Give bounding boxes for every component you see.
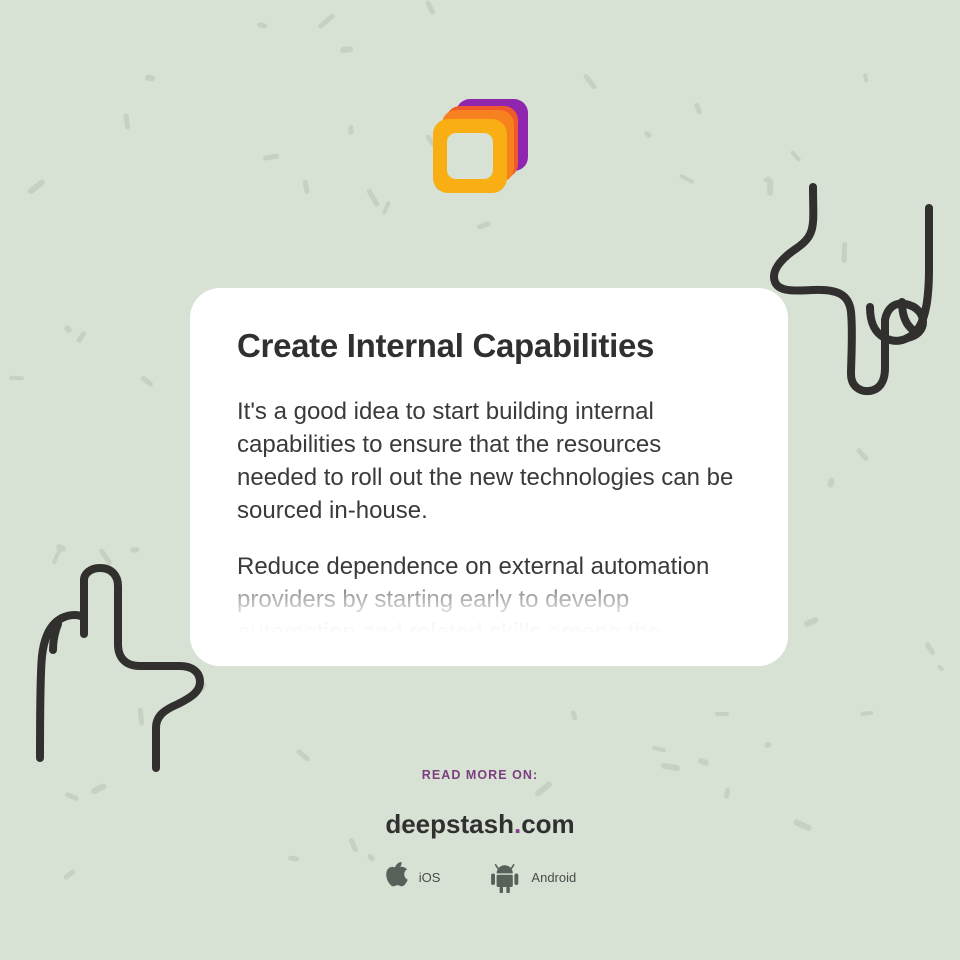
speckle [715, 712, 729, 716]
idea-card[interactable]: Create Internal Capabilities It's a good… [190, 288, 788, 666]
speckle [63, 324, 73, 334]
speckle [828, 477, 835, 488]
speckle [382, 201, 391, 216]
speckle [863, 73, 869, 83]
speckle [317, 13, 335, 30]
speckle [823, 285, 836, 297]
speckle [9, 376, 25, 381]
brand-wordmark[interactable]: deepstash.com [0, 811, 960, 837]
speckle [55, 544, 67, 553]
speckle [98, 547, 113, 565]
apple-icon [384, 862, 410, 893]
deepstash-logo [432, 98, 528, 194]
speckle [140, 375, 154, 387]
logo-square-hole [447, 133, 493, 179]
app-store-badges: iOS And [0, 862, 960, 893]
ios-label: iOS [419, 870, 441, 885]
speckle [924, 641, 936, 655]
android-label: Android [531, 870, 576, 885]
speckle [477, 221, 492, 230]
brand-tld: com [521, 809, 574, 839]
speckle [842, 242, 847, 263]
android-badge[interactable]: Android [488, 862, 576, 893]
speckle [763, 741, 771, 748]
speckle [199, 682, 208, 693]
speckle [697, 757, 709, 766]
speckle [138, 708, 145, 726]
speckle [256, 22, 267, 29]
speckle [570, 710, 578, 721]
speckle [860, 711, 874, 717]
speckle [76, 330, 87, 343]
card-paragraph-1: It's a good idea to start building inter… [237, 395, 742, 527]
speckle [856, 448, 869, 462]
speckle [145, 75, 156, 81]
ios-badge[interactable]: iOS [384, 862, 441, 893]
speckle [936, 664, 944, 672]
brand-name: deepstash [385, 809, 514, 839]
card-title: Create Internal Capabilities [237, 326, 742, 366]
footer: READ MORE ON: deepstash.com iOS [0, 768, 960, 893]
speckle [51, 547, 62, 565]
poster-canvas: Create Internal Capabilities It's a good… [0, 0, 960, 960]
speckle [803, 617, 819, 628]
logo-container [0, 98, 960, 194]
speckle [582, 73, 597, 90]
read-more-label: READ MORE ON: [0, 768, 960, 782]
speckle [130, 547, 140, 553]
speckle [296, 748, 312, 762]
speckle [339, 46, 353, 53]
speckle [652, 746, 666, 754]
card-paragraph-2: Reduce dependence on external automation… [237, 550, 742, 649]
speckle [425, 0, 436, 15]
android-icon [488, 862, 522, 893]
